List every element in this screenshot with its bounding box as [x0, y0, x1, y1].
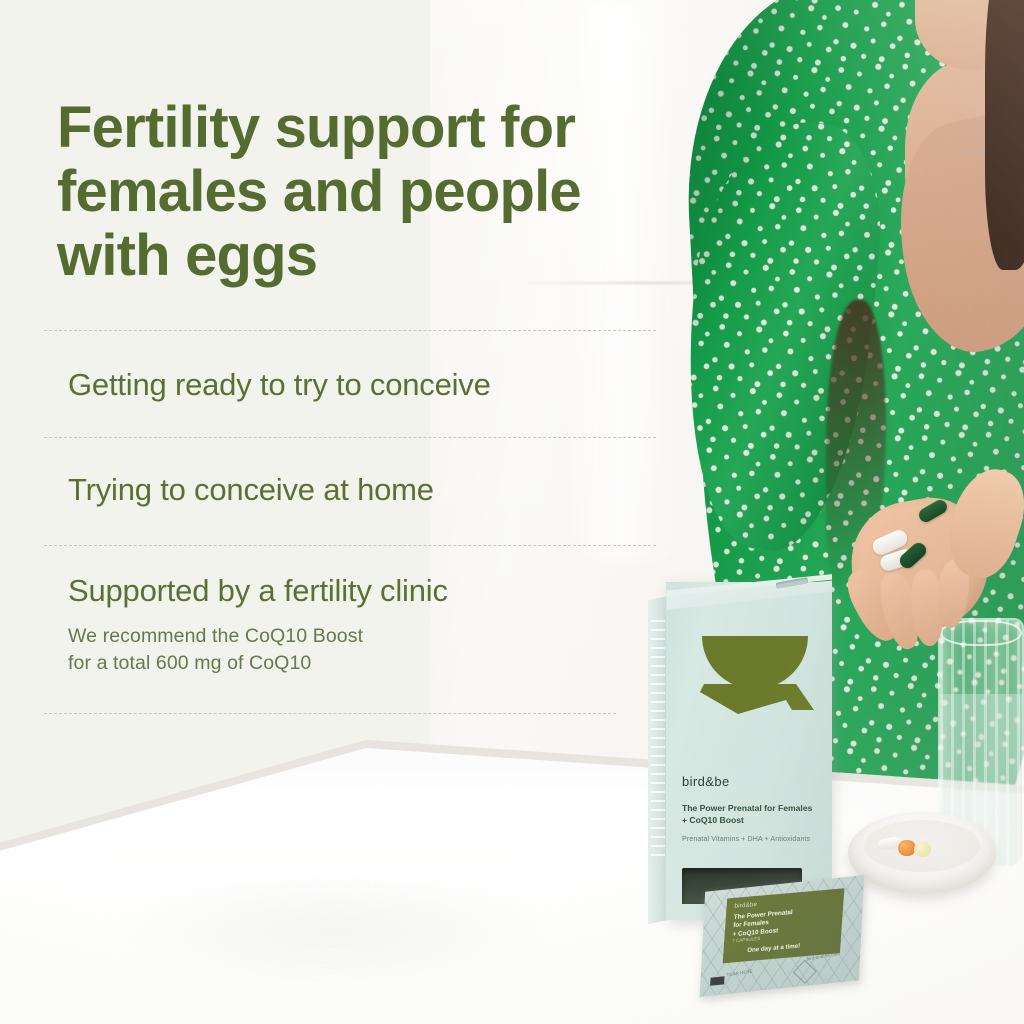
divider [44, 330, 656, 331]
sachet-subtitle: 7 CAPSULES [732, 936, 761, 944]
page-title: Fertility support for females and people… [57, 96, 677, 288]
product-box-title: The Power Prenatal for Females + CoQ10 B… [682, 802, 814, 826]
list-item-fertility-clinic: Supported by a fertility clinic [68, 572, 448, 610]
product-box-subtitle: Prenatal Vitamins + DHA + Antioxidants [682, 834, 822, 844]
sachet-registration-mark [710, 976, 724, 986]
list-item-getting-ready: Getting ready to try to conceive [68, 366, 491, 404]
bird-mark-icon [696, 614, 816, 744]
divider [44, 545, 656, 546]
promo-graphic: bird&be The Power Prenatal for Females +… [0, 0, 1024, 1024]
hair-right-side [985, 0, 1024, 270]
divider [44, 437, 656, 438]
sachet-brand: bird&be [734, 901, 757, 910]
supplement-sachet: bird&be The Power Prenatal for Females +… [700, 875, 865, 997]
list-item-trying-at-home: Trying to conceive at home [68, 471, 434, 509]
list-item-note: We recommend the CoQ10 Boost for a total… [68, 623, 498, 677]
sachet-tagline: One day at a time! [747, 942, 800, 954]
bowl-yellow-softgel [914, 842, 931, 857]
divider [44, 713, 616, 714]
text-panel: Fertility support for females and people… [0, 0, 700, 1024]
sachet-title: The Power Prenatal for Females + CoQ10 B… [732, 905, 833, 939]
sachet-label: bird&be The Power Prenatal for Females +… [723, 888, 845, 963]
